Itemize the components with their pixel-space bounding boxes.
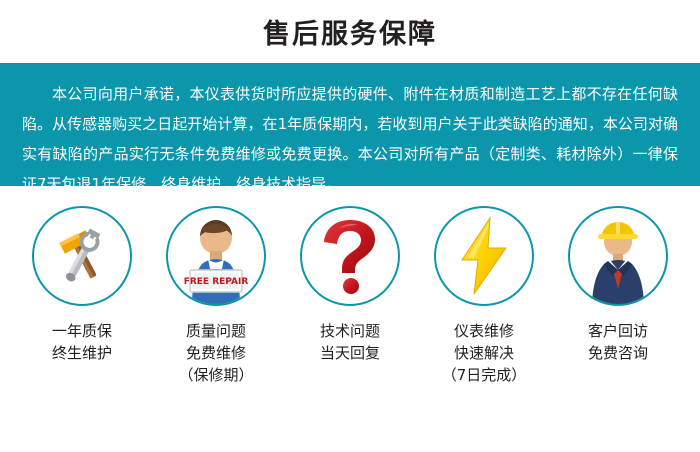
feature-item-free-repair: FREE REPAIR 质量问题 免费维修 （保修期）: [156, 206, 276, 386]
description-text: 本公司向用户承诺，本仪表供货时所应提供的硬件、附件在材质和制造工艺上都不存在任何…: [22, 79, 678, 199]
engineer-person-icon: [570, 208, 666, 304]
feature-caption: 客户回访 免费咨询: [588, 320, 648, 364]
features-row: 一年质保 终生维护: [0, 186, 700, 386]
description-band: 本公司向用户承诺，本仪表供货时所应提供的硬件、附件在材质和制造工艺上都不存在任何…: [0, 63, 700, 186]
after-sales-service-page: 售后服务保障 本公司向用户承诺，本仪表供货时所应提供的硬件、附件在材质和制造工艺…: [0, 0, 700, 452]
feature-caption: 质量问题 免费维修 （保修期）: [178, 320, 253, 386]
feature-item-warranty: 一年质保 终生维护: [22, 206, 142, 386]
free-repair-badge-text: FREE REPAIR: [184, 277, 249, 287]
free-repair-person-icon: FREE REPAIR: [168, 208, 264, 304]
lightning-bolt-icon: [456, 216, 512, 296]
page-title-band: 售后服务保障: [0, 0, 700, 63]
feature-caption: 技术问题 当天回复: [320, 320, 380, 364]
question-mark-icon: [318, 218, 382, 294]
feature-item-tech-question: 技术问题 当天回复: [290, 206, 410, 386]
feature-caption: 一年质保 终生维护: [52, 320, 112, 364]
feature-icon-circle: [434, 206, 534, 306]
feature-item-fast-repair: 仪表维修 快速解决 （7日完成）: [424, 206, 544, 386]
feature-item-customer-visit: 客户回访 免费咨询: [558, 206, 678, 386]
page-title: 售后服务保障: [263, 12, 437, 51]
feature-icon-circle: FREE REPAIR: [166, 206, 266, 306]
feature-icon-circle: [300, 206, 400, 306]
feature-icon-circle: [568, 206, 668, 306]
feature-caption: 仪表维修 快速解决 （7日完成）: [442, 320, 527, 386]
feature-icon-circle: [32, 206, 132, 306]
wrench-hammer-icon: [46, 220, 118, 292]
